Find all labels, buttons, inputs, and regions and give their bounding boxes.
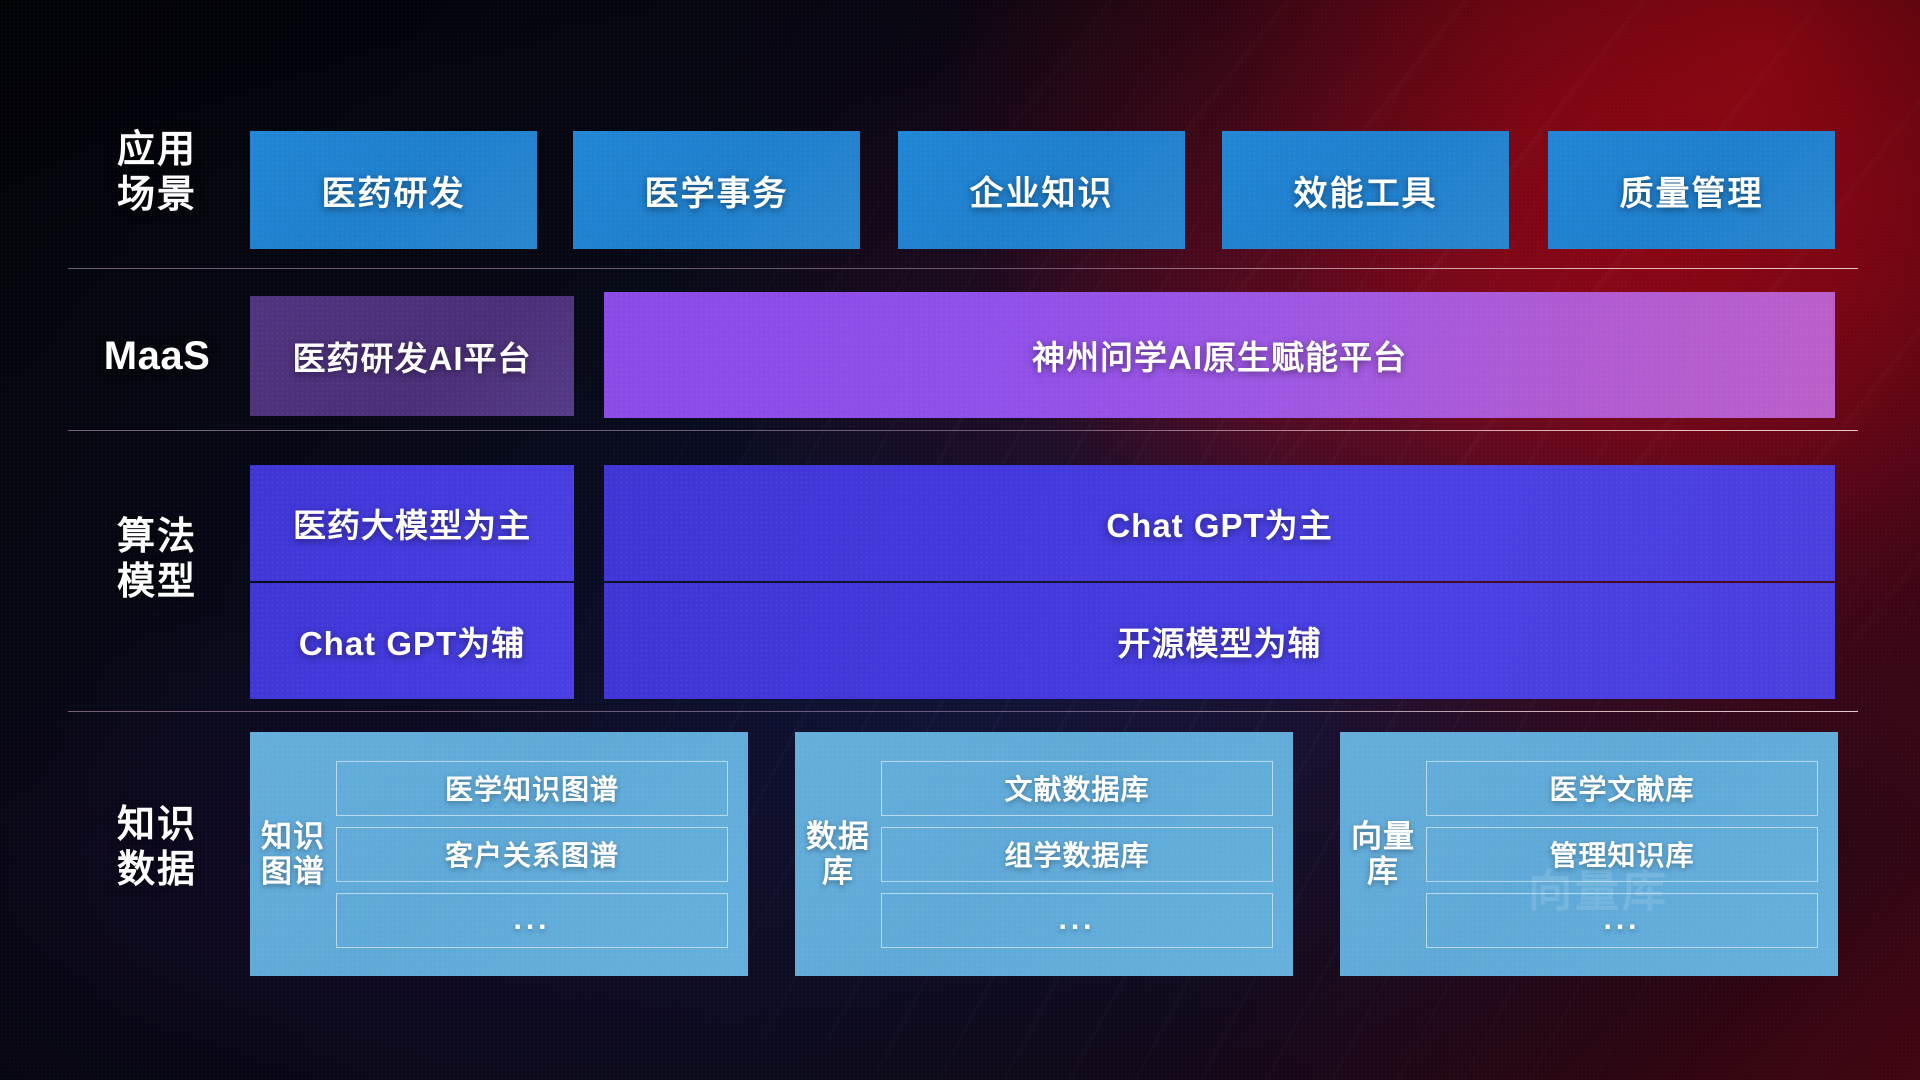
divider-application-maas	[68, 268, 1858, 269]
knowledge-item-more[interactable]: ...	[881, 893, 1273, 948]
algo-box-primary-right-label: Chat GPT为主	[1106, 499, 1332, 547]
divider-maas-algorithm	[68, 430, 1858, 431]
knowledge-group-database-items: 文献数据库 组学数据库 ...	[881, 761, 1273, 948]
diagram-canvas: 应用 场景 医药研发 医学事务 企业知识 效能工具 质量管理 MaaS 医药研发…	[0, 0, 1920, 1080]
knowledge-item[interactable]: 组学数据库	[881, 827, 1273, 882]
app-box-5[interactable]: 质量管理	[1548, 131, 1835, 249]
knowledge-item-more[interactable]: ...	[1426, 893, 1818, 948]
algo-box-primary-right[interactable]: Chat GPT为主	[604, 465, 1835, 581]
knowledge-group-database-title: 数据库	[795, 819, 881, 890]
app-box-1-label: 医药研发	[322, 166, 466, 215]
algo-box-secondary-right[interactable]: 开源模型为辅	[604, 583, 1835, 699]
maas-box-platform[interactable]: 医药研发AI平台	[250, 296, 574, 416]
row-label-maas-text: MaaS	[62, 333, 252, 380]
knowledge-group-graph[interactable]: 知识图谱 医学知识图谱 客户关系图谱 ...	[250, 732, 748, 976]
algo-box-primary-left[interactable]: 医药大模型为主	[250, 465, 574, 581]
algo-box-secondary-right-label: 开源模型为辅	[1118, 617, 1322, 665]
app-box-2-label: 医学事务	[645, 166, 789, 215]
divider-algorithm-knowledge	[68, 711, 1858, 712]
knowledge-item-more[interactable]: ...	[336, 893, 728, 948]
app-box-5-label: 质量管理	[1620, 166, 1764, 215]
algo-box-secondary-left[interactable]: Chat GPT为辅	[250, 583, 574, 699]
knowledge-group-graph-title: 知识图谱	[250, 819, 336, 890]
row-label-algorithm-line2: 模型	[62, 560, 252, 605]
row-label-maas: MaaS	[62, 333, 252, 380]
row-label-algorithm-line1: 算法	[62, 515, 252, 560]
maas-box-platform-label: 医药研发AI平台	[293, 332, 532, 380]
row-label-application-line1: 应用	[62, 128, 252, 173]
row-label-knowledge-line1: 知识	[62, 803, 252, 848]
knowledge-item[interactable]: 客户关系图谱	[336, 827, 728, 882]
row-label-application: 应用 场景	[62, 128, 252, 218]
knowledge-group-vector[interactable]: 向量库 医学文献库 管理知识库 ...	[1340, 732, 1838, 976]
app-box-2[interactable]: 医学事务	[573, 131, 860, 249]
algo-box-secondary-left-label: Chat GPT为辅	[299, 617, 525, 665]
row-label-knowledge-line2: 数据	[62, 848, 252, 893]
knowledge-group-vector-title: 向量库	[1340, 819, 1426, 890]
knowledge-group-database[interactable]: 数据库 文献数据库 组学数据库 ...	[795, 732, 1293, 976]
knowledge-item[interactable]: 医学知识图谱	[336, 761, 728, 816]
maas-box-shenzhou[interactable]: 神州问学AI原生赋能平台	[604, 292, 1835, 418]
app-box-3[interactable]: 企业知识	[898, 131, 1185, 249]
row-label-knowledge: 知识 数据	[62, 803, 252, 893]
app-box-1[interactable]: 医药研发	[250, 131, 537, 249]
algo-box-primary-left-label: 医药大模型为主	[293, 499, 531, 547]
knowledge-group-vector-items: 医学文献库 管理知识库 ...	[1426, 761, 1818, 948]
knowledge-item[interactable]: 医学文献库	[1426, 761, 1818, 816]
row-label-algorithm: 算法 模型	[62, 515, 252, 605]
app-box-4[interactable]: 效能工具	[1222, 131, 1509, 249]
knowledge-item[interactable]: 管理知识库	[1426, 827, 1818, 882]
maas-box-shenzhou-label: 神州问学AI原生赋能平台	[1032, 331, 1407, 379]
knowledge-group-graph-items: 医学知识图谱 客户关系图谱 ...	[336, 761, 728, 948]
row-label-application-line2: 场景	[62, 173, 252, 218]
app-box-3-label: 企业知识	[970, 166, 1114, 215]
app-box-4-label: 效能工具	[1294, 166, 1438, 215]
knowledge-item[interactable]: 文献数据库	[881, 761, 1273, 816]
